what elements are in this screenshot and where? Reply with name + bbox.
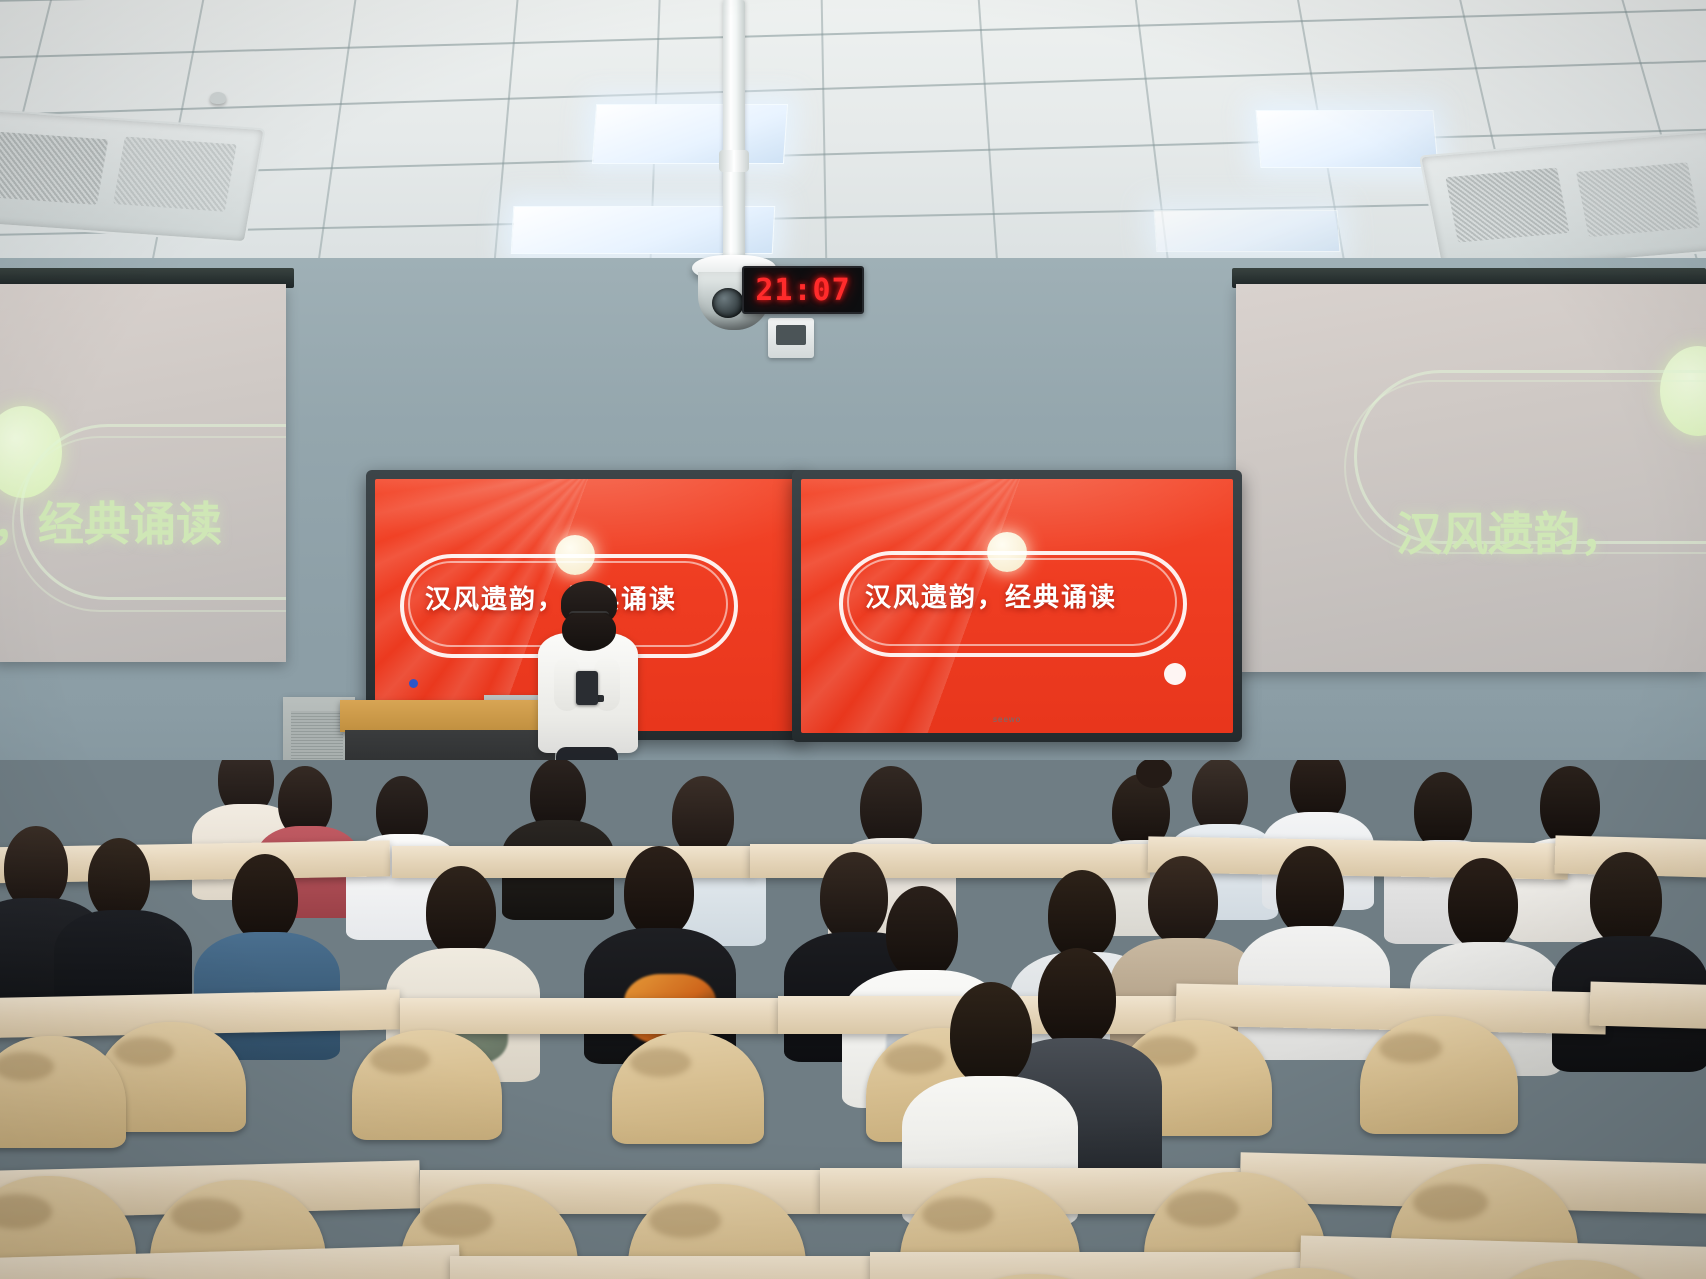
led-display-brand-label: seewo: [993, 715, 1021, 724]
led-right-slide-text: 汉风遗韵，经典诵读: [865, 577, 1117, 614]
air-vent-icon: [0, 109, 266, 244]
air-vent-icon: [1419, 130, 1706, 276]
led-display-right[interactable]: 汉风遗韵，经典诵读: [792, 470, 1242, 742]
panel-light-icon: [1154, 210, 1341, 252]
ceiling: [0, 0, 1706, 300]
glasses-icon: [569, 611, 609, 624]
clock-time: 21:07: [755, 273, 850, 308]
slide-corner-dot: [1164, 663, 1186, 685]
projection-left-text: 韵，经典诵读: [0, 488, 222, 554]
pole-collar: [719, 150, 749, 172]
desk-row: [450, 1256, 870, 1279]
projection-right-text: 汉风遗韵，: [1396, 498, 1626, 564]
smoke-detector-icon: [210, 92, 226, 104]
desk-row: [1176, 984, 1607, 1035]
desk-row: [1299, 1235, 1706, 1279]
desk-row: [870, 1252, 1300, 1279]
mobile-phone-icon: [576, 671, 598, 705]
screen-status-dot: [409, 679, 418, 688]
wall-control-panel-face: [776, 325, 806, 345]
camera-lens-icon: [712, 288, 744, 318]
desk-row: [1589, 981, 1706, 1030]
ceiling-pole: [723, 0, 745, 262]
projection-screen-left: 韵，经典诵读: [0, 284, 286, 662]
desk-row: [400, 998, 780, 1034]
lectern-top: [340, 700, 560, 732]
audience-area: WHAT: [0, 760, 1706, 1279]
chair: [612, 1032, 764, 1144]
panel-light-icon: [1255, 110, 1438, 168]
panel-light-icon: [592, 104, 788, 164]
lecture-hall-photo: 21:07 韵，经典诵读 汉风遗韵， 汉风遗韵，经典诵读 汉风遗韵，经典诵读: [0, 0, 1706, 1279]
digital-clock-icon: 21:07: [742, 266, 864, 314]
led-display-right-screen: 汉风遗韵，经典诵读: [801, 479, 1233, 733]
projection-screen-right: 汉风遗韵，: [1236, 284, 1706, 672]
